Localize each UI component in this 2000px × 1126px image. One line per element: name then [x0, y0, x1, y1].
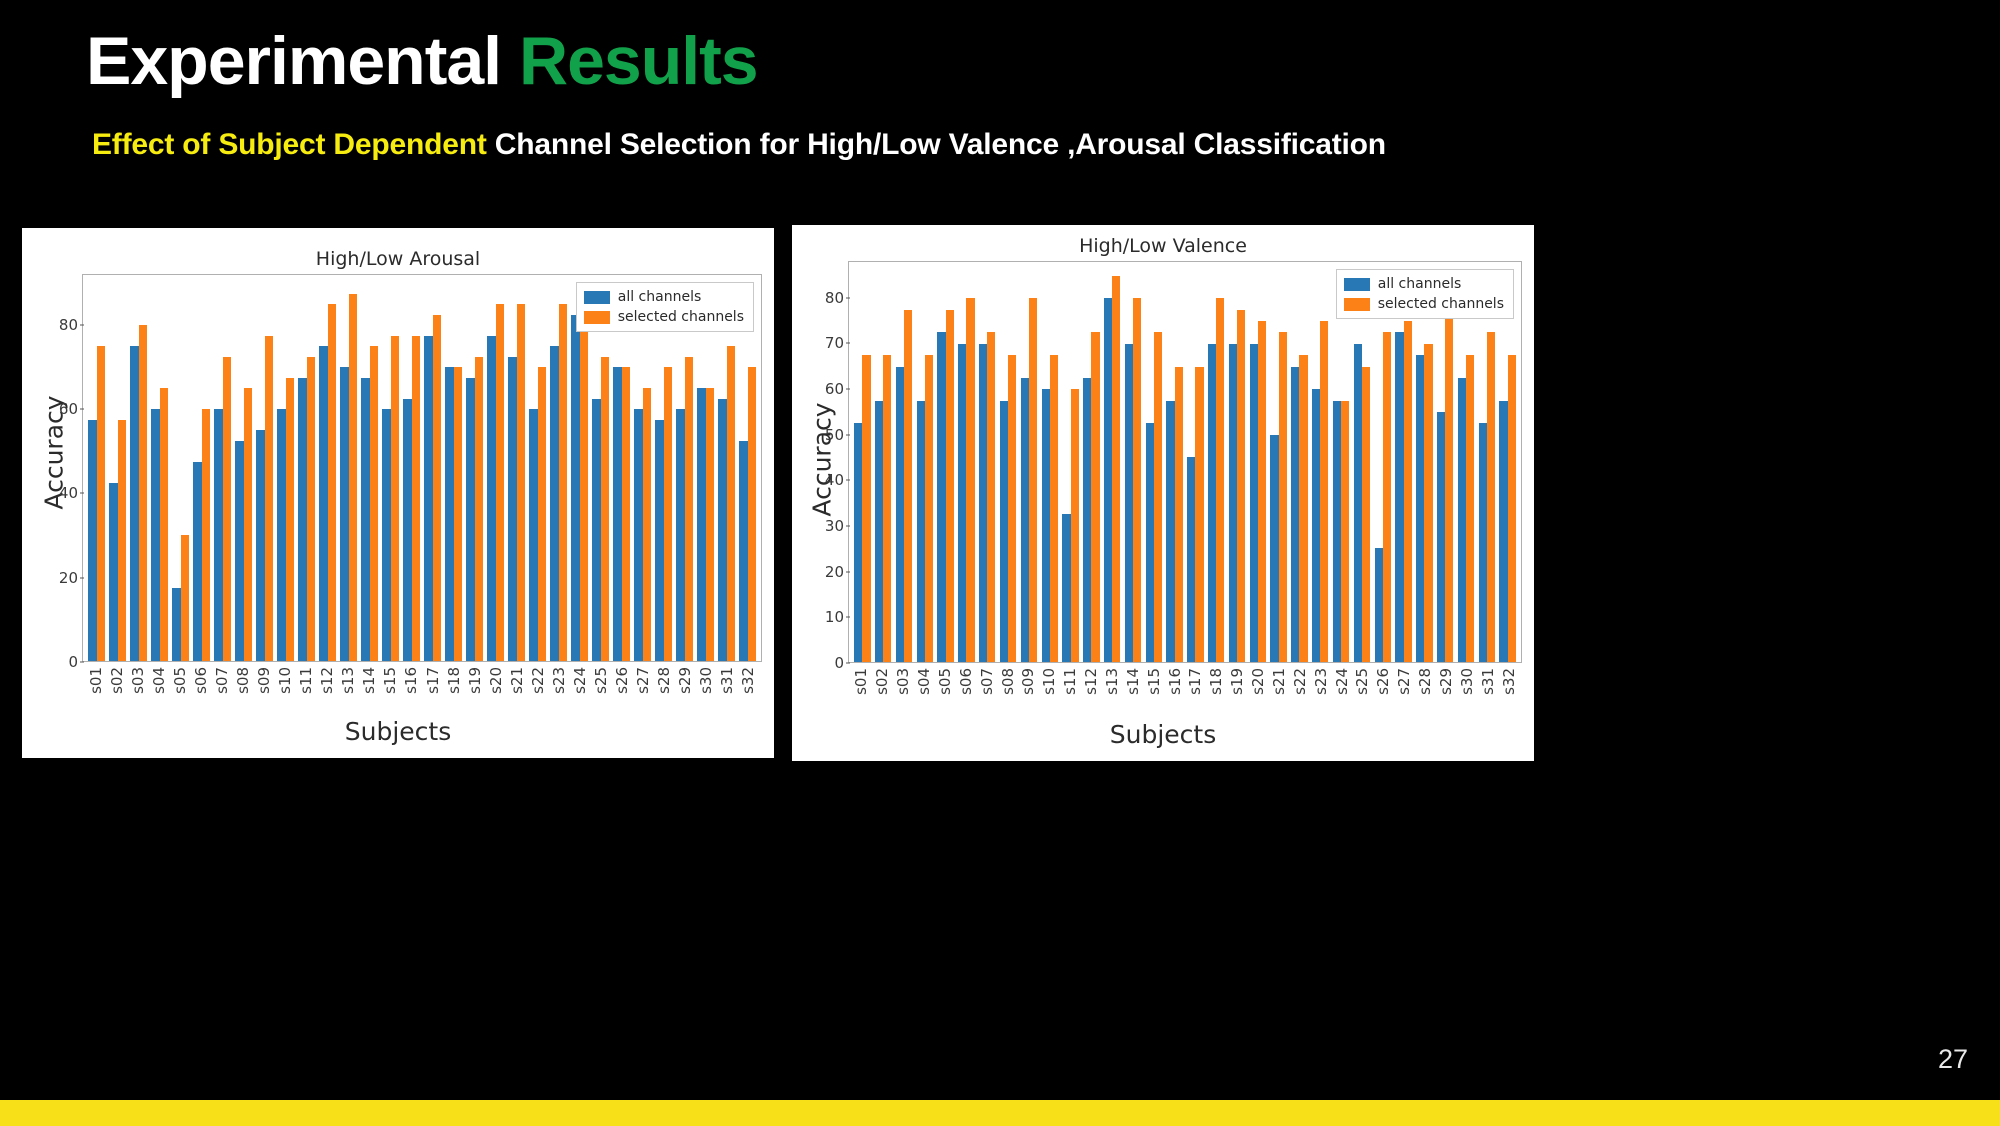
page-subtitle-rest: Channel Selection for High/Low Valence ,…: [487, 128, 1386, 161]
bar-group: [1372, 262, 1393, 662]
x-tick-label: s25: [592, 667, 610, 694]
legend-swatch-selected-channels: [1344, 298, 1370, 311]
bar-selected-channels: [1216, 298, 1224, 662]
bar-group: [422, 275, 443, 661]
bar-selected-channels: [1050, 355, 1058, 662]
x-tick: s23: [1310, 663, 1331, 727]
bar-group: [464, 275, 485, 661]
bar-group: [977, 262, 998, 662]
bar-selected-channels: [307, 357, 315, 661]
x-tick-label: s29: [676, 667, 694, 694]
y-tick-mark: [846, 571, 850, 572]
bar-all-channels: [1146, 423, 1154, 662]
bar-all-channels: [151, 409, 159, 661]
bar-selected-channels: [925, 355, 933, 662]
bar-all-channels: [1416, 355, 1424, 662]
legend-label-selected-channels: selected channels: [1378, 296, 1504, 312]
x-tick: s10: [1039, 663, 1060, 727]
bar-group: [527, 275, 548, 661]
x-tick: s06: [955, 663, 976, 727]
x-tick: s25: [1352, 663, 1373, 727]
bar-selected-channels: [1154, 332, 1162, 662]
bar-selected-channels: [517, 304, 525, 661]
bar-group: [1352, 262, 1373, 662]
bar-all-channels: [235, 441, 243, 661]
x-tick-label: s24: [571, 667, 589, 694]
y-tick-label: 10: [825, 608, 844, 626]
y-axis-label-valence: Accuracy: [808, 400, 837, 520]
x-tick-label: s18: [1207, 668, 1225, 695]
y-tick-label: 60: [825, 380, 844, 398]
bar-group: [935, 262, 956, 662]
bar-series-valence: [849, 262, 1521, 662]
bar-all-channels: [1104, 298, 1112, 662]
bar-group: [191, 275, 212, 661]
bar-selected-channels: [1383, 332, 1391, 662]
bar-selected-channels: [1091, 332, 1099, 662]
bar-selected-channels: [97, 346, 105, 661]
bar-group: [1414, 262, 1435, 662]
x-tick-label: s09: [255, 667, 273, 694]
bar-selected-channels: [1404, 321, 1412, 662]
bar-group: [695, 275, 716, 661]
x-tick-label: s23: [550, 667, 568, 694]
x-tick-label: s12: [1082, 668, 1100, 695]
x-tick-label: s17: [1186, 668, 1204, 695]
page-subtitle-highlight: Effect of Subject Dependent: [92, 128, 487, 161]
x-tick-label: s01: [852, 668, 870, 695]
x-tick-label: s21: [1270, 668, 1288, 695]
x-tick-label: s19: [466, 667, 484, 694]
x-axis-ticks-valence: s01s02s03s04s05s06s07s08s09s10s11s12s13s…: [848, 663, 1522, 727]
x-tick-label: s31: [1479, 668, 1497, 695]
bar-all-channels: [854, 423, 862, 662]
x-tick-label: s04: [915, 668, 933, 695]
bar-group: [569, 275, 590, 661]
bar-group: [506, 275, 527, 661]
bar-all-channels: [130, 346, 138, 661]
bar-group: [359, 275, 380, 661]
x-tick-label: s29: [1437, 668, 1455, 695]
bar-selected-channels: [1133, 298, 1141, 662]
x-tick-label: s30: [1458, 668, 1476, 695]
plot-area-valence: all channels selected channels: [848, 261, 1522, 663]
x-tick: s12: [1081, 663, 1102, 727]
bar-all-channels: [937, 332, 945, 662]
bar-group: [611, 275, 632, 661]
legend-row-selected-channels: selected channels: [584, 309, 744, 325]
x-tick-label: s03: [894, 668, 912, 695]
bar-selected-channels: [118, 420, 126, 661]
x-tick: s09: [1018, 663, 1039, 727]
bar-selected-channels: [883, 355, 891, 662]
x-tick: s30: [1456, 663, 1477, 727]
bar-group: [1476, 262, 1497, 662]
bar-all-channels: [697, 388, 705, 661]
x-tick-label: s11: [297, 667, 315, 694]
chart-panel-valence: High/Low Valence Accuracy all channels s…: [792, 225, 1534, 761]
y-tick-label: 50: [825, 426, 844, 444]
bar-all-channels: [655, 420, 663, 661]
y-tick-mark: [80, 408, 84, 409]
x-tick-label: s06: [957, 668, 975, 695]
bar-all-channels: [1312, 389, 1320, 662]
legend-swatch-all-channels: [1344, 278, 1370, 291]
x-tick-label: s28: [1416, 668, 1434, 695]
bar-group: [852, 262, 873, 662]
bar-selected-channels: [1508, 355, 1516, 662]
bar-selected-channels: [748, 367, 756, 661]
x-tick-label: s23: [1312, 668, 1330, 695]
y-tick-label: 80: [59, 316, 78, 334]
legend-label-all-channels: all channels: [1378, 276, 1462, 292]
bar-selected-channels: [1071, 389, 1079, 662]
bar-selected-channels: [475, 357, 483, 661]
plot-area-arousal: all channels selected channels: [82, 274, 762, 662]
bottom-accent-bar: [0, 1100, 2000, 1126]
bar-selected-channels: [904, 310, 912, 662]
x-tick: s17: [1185, 663, 1206, 727]
bar-group: [653, 275, 674, 661]
bar-selected-channels: [265, 336, 273, 661]
legend-valence: all channels selected channels: [1336, 269, 1514, 319]
bar-selected-channels: [1112, 276, 1120, 662]
x-tick-label: s05: [936, 668, 954, 695]
x-tick-label: s12: [318, 667, 336, 694]
y-tick-label: 20: [825, 563, 844, 581]
bar-selected-channels: [559, 304, 567, 661]
bar-all-channels: [571, 315, 579, 661]
bar-selected-channels: [601, 357, 609, 661]
x-tick-label: s32: [739, 667, 757, 694]
bar-all-channels: [88, 420, 96, 661]
y-tick-mark: [80, 493, 84, 494]
bar-group: [674, 275, 695, 661]
bar-selected-channels: [1299, 355, 1307, 662]
x-tick: s05: [935, 663, 956, 727]
bar-selected-channels: [1237, 310, 1245, 662]
bar-selected-channels: [139, 325, 147, 661]
bar-group: [1393, 262, 1414, 662]
bar-group: [170, 275, 191, 661]
page-subtitle: Effect of Subject Dependent Channel Sele…: [92, 128, 1386, 162]
legend-row-all-channels: all channels: [584, 289, 744, 305]
bar-group: [1289, 262, 1310, 662]
bar-group: [894, 262, 915, 662]
legend-row-all-channels: all channels: [1344, 276, 1504, 292]
bar-group: [86, 275, 107, 661]
x-tick-label: s15: [1145, 668, 1163, 695]
bar-selected-channels: [946, 310, 954, 662]
x-tick-label: s09: [1019, 668, 1037, 695]
bar-all-channels: [424, 336, 432, 661]
bar-group: [107, 275, 128, 661]
bar-selected-channels: [1029, 298, 1037, 662]
bar-group: [1102, 262, 1123, 662]
y-tick-mark: [846, 297, 850, 298]
x-tick-label: s08: [999, 668, 1017, 695]
chart-title-arousal: High/Low Arousal: [22, 248, 774, 270]
x-tick: s22: [1289, 663, 1310, 727]
x-tick: s08: [997, 663, 1018, 727]
bar-group: [1164, 262, 1185, 662]
bar-group: [548, 275, 569, 661]
x-tick-label: s31: [718, 667, 736, 694]
bar-group: [1310, 262, 1331, 662]
bar-selected-channels: [370, 346, 378, 661]
x-tick-label: s06: [192, 667, 210, 694]
bar-group: [275, 275, 296, 661]
bar-selected-channels: [433, 315, 441, 661]
x-tick-label: s28: [655, 667, 673, 694]
bar-group: [1185, 262, 1206, 662]
y-tick-label: 40: [825, 471, 844, 489]
bar-group: [1206, 262, 1227, 662]
x-tick: s32: [1498, 663, 1519, 727]
chart-title-valence: High/Low Valence: [792, 235, 1534, 257]
x-tick: s24: [1331, 663, 1352, 727]
bar-selected-channels: [1008, 355, 1016, 662]
bar-selected-channels: [538, 367, 546, 661]
bar-all-channels: [1375, 548, 1383, 662]
legend-swatch-all-channels: [584, 291, 610, 304]
x-tick-label: s02: [873, 668, 891, 695]
bar-group: [338, 275, 359, 661]
bar-all-channels: [1291, 367, 1299, 662]
bar-selected-channels: [1320, 321, 1328, 662]
bar-all-channels: [172, 588, 180, 661]
bar-selected-channels: [1466, 355, 1474, 662]
x-tick: s19: [1227, 663, 1248, 727]
bar-group: [401, 275, 422, 661]
x-tick-label: s10: [1040, 668, 1058, 695]
bar-all-channels: [1042, 389, 1050, 662]
x-tick-label: s14: [1124, 668, 1142, 695]
bar-all-channels: [382, 409, 390, 661]
bar-group: [914, 262, 935, 662]
x-tick: s29: [1436, 663, 1457, 727]
bar-group: [1143, 262, 1164, 662]
x-tick-label: s15: [381, 667, 399, 694]
y-tick-label: 40: [59, 484, 78, 502]
x-tick-label: s27: [634, 667, 652, 694]
bar-group: [1497, 262, 1518, 662]
x-tick-label: s03: [129, 667, 147, 694]
y-tick-mark: [846, 617, 850, 618]
bar-selected-channels: [496, 304, 504, 661]
bar-selected-channels: [349, 294, 357, 661]
bar-all-channels: [508, 357, 516, 661]
bar-selected-channels: [1341, 401, 1349, 662]
bar-selected-channels: [1279, 332, 1287, 662]
x-tick-label: s27: [1395, 668, 1413, 695]
bar-all-channels: [466, 378, 474, 661]
bar-all-channels: [1354, 344, 1362, 662]
bar-all-channels: [917, 401, 925, 662]
bar-group: [485, 275, 506, 661]
x-tick: s27: [1394, 663, 1415, 727]
bar-all-channels: [875, 401, 883, 662]
bar-group: [149, 275, 170, 661]
bar-selected-channels: [1175, 367, 1183, 662]
bar-group: [254, 275, 275, 661]
x-tick-label: s32: [1500, 668, 1518, 695]
plot-wrap-arousal: all channels selected channels 020406080…: [82, 274, 762, 662]
bar-selected-channels: [244, 388, 252, 661]
x-tick-label: s01: [87, 667, 105, 694]
bar-all-channels: [193, 462, 201, 661]
page-title-accent: Results: [519, 23, 758, 99]
bar-group: [1123, 262, 1144, 662]
bar-group: [1268, 262, 1289, 662]
x-tick-label: s14: [360, 667, 378, 694]
x-tick: s14: [1122, 663, 1143, 727]
x-tick-label: s20: [1249, 668, 1267, 695]
chart-panel-arousal: High/Low Arousal Accuracy all channels s…: [22, 228, 774, 758]
y-tick-mark: [80, 577, 84, 578]
bar-group: [1456, 262, 1477, 662]
x-tick-label: s16: [402, 667, 420, 694]
bar-selected-channels: [664, 367, 672, 661]
bar-selected-channels: [727, 346, 735, 661]
bar-selected-channels: [1258, 321, 1266, 662]
x-tick-label: s26: [1374, 668, 1392, 695]
legend-row-selected-channels: selected channels: [1344, 296, 1504, 312]
x-tick-label: s07: [213, 667, 231, 694]
bar-group: [1039, 262, 1060, 662]
bar-group: [212, 275, 233, 661]
x-tick: s28: [1415, 663, 1436, 727]
x-tick: s26: [1373, 663, 1394, 727]
bar-all-channels: [550, 346, 558, 661]
x-tick-label: s02: [108, 667, 126, 694]
x-axis-label-arousal: Subjects: [22, 717, 774, 746]
y-tick-mark: [846, 343, 850, 344]
bar-all-channels: [529, 409, 537, 661]
x-tick-label: s22: [529, 667, 547, 694]
legend-label-selected-channels: selected channels: [618, 309, 744, 325]
bar-all-channels: [979, 344, 987, 662]
x-tick-label: s08: [234, 667, 252, 694]
y-tick-label: 70: [825, 334, 844, 352]
bar-group: [128, 275, 149, 661]
bar-selected-channels: [987, 332, 995, 662]
x-tick-label: s17: [424, 667, 442, 694]
x-tick-label: s25: [1353, 668, 1371, 695]
x-tick-label: s16: [1166, 668, 1184, 695]
bar-all-channels: [109, 483, 117, 661]
x-tick: s20: [1248, 663, 1269, 727]
bar-group: [1331, 262, 1352, 662]
slide: Experimental Results Effect of Subject D…: [0, 0, 2000, 1126]
y-tick-mark: [846, 434, 850, 435]
bar-all-channels: [613, 367, 621, 661]
x-tick: s11: [1060, 663, 1081, 727]
bar-all-channels: [298, 378, 306, 661]
x-tick-label: s11: [1061, 668, 1079, 695]
y-tick-label: 60: [59, 400, 78, 418]
x-tick-label: s05: [171, 667, 189, 694]
page-title-main: Experimental: [86, 23, 501, 99]
y-tick-mark: [846, 525, 850, 526]
bar-group: [1247, 262, 1268, 662]
bar-selected-channels: [286, 378, 294, 661]
bar-all-channels: [1395, 332, 1403, 662]
x-tick: s02: [872, 663, 893, 727]
bar-group: [380, 275, 401, 661]
x-tick: s13: [1102, 663, 1123, 727]
x-tick: s07: [976, 663, 997, 727]
x-tick: s04: [914, 663, 935, 727]
x-tick-label: s30: [697, 667, 715, 694]
bar-all-channels: [1062, 514, 1070, 662]
bar-selected-channels: [1362, 367, 1370, 662]
bar-selected-channels: [966, 298, 974, 662]
x-tick-label: s19: [1228, 668, 1246, 695]
x-tick-label: s21: [508, 667, 526, 694]
bar-all-channels: [1333, 401, 1341, 662]
x-tick: s15: [1143, 663, 1164, 727]
bar-all-channels: [676, 409, 684, 661]
x-tick-label: s10: [276, 667, 294, 694]
bar-group: [233, 275, 254, 661]
plot-wrap-valence: all channels selected channels 010203040…: [848, 261, 1522, 663]
bar-all-channels: [487, 336, 495, 661]
bar-all-channels: [1270, 435, 1278, 662]
bar-all-channels: [1187, 457, 1195, 662]
x-tick-label: s26: [613, 667, 631, 694]
bar-group: [590, 275, 611, 661]
bar-selected-channels: [862, 355, 870, 662]
bar-group: [1081, 262, 1102, 662]
bar-selected-channels: [160, 388, 168, 661]
bar-group: [443, 275, 464, 661]
x-tick: s01: [851, 663, 872, 727]
bar-selected-channels: [580, 315, 588, 661]
y-tick-label: 30: [825, 517, 844, 535]
x-tick: s16: [1164, 663, 1185, 727]
x-axis-label-valence: Subjects: [792, 720, 1534, 749]
bar-selected-channels: [181, 535, 189, 661]
bar-all-channels: [445, 367, 453, 661]
x-tick-label: s22: [1291, 668, 1309, 695]
bar-all-channels: [739, 441, 747, 661]
bar-selected-channels: [202, 409, 210, 661]
bar-series-arousal: [83, 275, 761, 661]
bar-selected-channels: [643, 388, 651, 661]
bar-selected-channels: [685, 357, 693, 661]
bar-all-channels: [1000, 401, 1008, 662]
bar-group: [956, 262, 977, 662]
bar-all-channels: [718, 399, 726, 661]
bar-group: [317, 275, 338, 661]
bar-all-channels: [1125, 344, 1133, 662]
y-tick-mark: [80, 324, 84, 325]
bar-all-channels: [1021, 378, 1029, 662]
bar-group: [716, 275, 737, 661]
bar-group: [873, 262, 894, 662]
bar-all-channels: [403, 399, 411, 661]
bar-selected-channels: [1445, 310, 1453, 662]
bar-selected-channels: [706, 388, 714, 661]
x-tick: s31: [1477, 663, 1498, 727]
bar-group: [1060, 262, 1081, 662]
bar-selected-channels: [622, 367, 630, 661]
bar-group: [1435, 262, 1456, 662]
bar-all-channels: [361, 378, 369, 661]
y-tick-mark: [846, 388, 850, 389]
page-number: 27: [1938, 1044, 1968, 1075]
